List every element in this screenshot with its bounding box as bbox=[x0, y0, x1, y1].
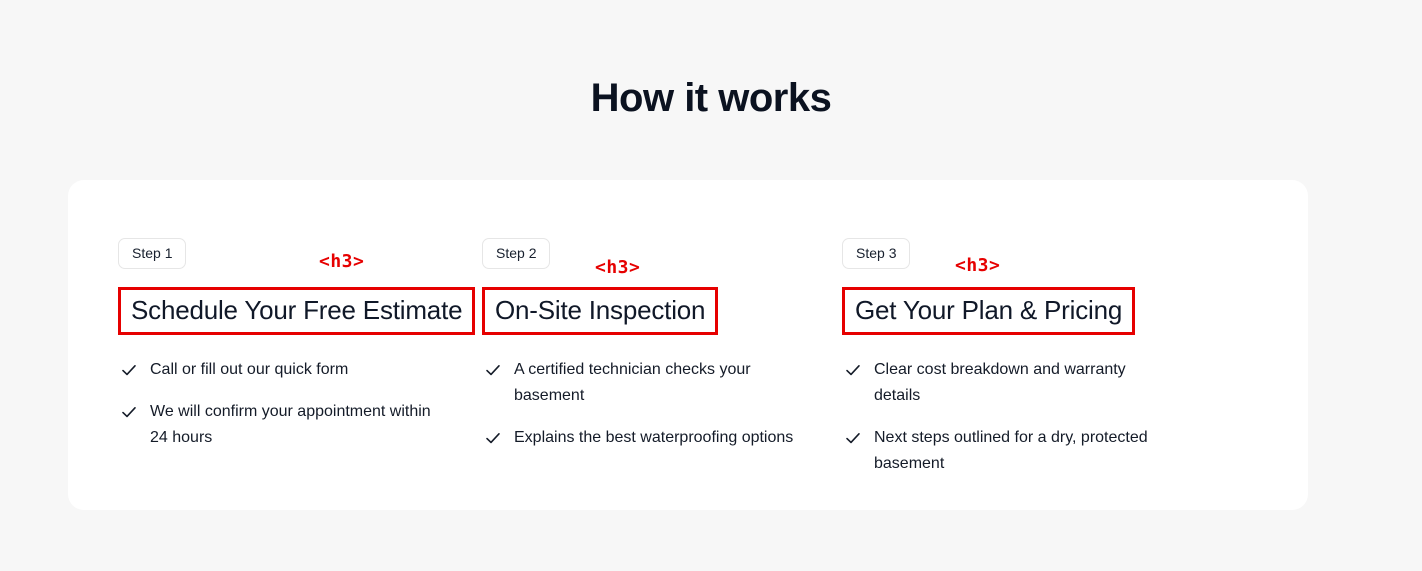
check-icon bbox=[484, 429, 502, 447]
step-2-heading: On-Site Inspection bbox=[495, 294, 705, 326]
step-3-badge: Step 3 bbox=[842, 238, 910, 269]
step-3-heading: Get Your Plan & Pricing bbox=[855, 294, 1122, 326]
step-1-heading: Schedule Your Free Estimate bbox=[131, 294, 462, 326]
list-item-text: Explains the best waterproofing options bbox=[514, 425, 804, 451]
step-2-heading-outline: On-Site Inspection bbox=[482, 287, 718, 335]
h3-annotation-tag-3: <h3> bbox=[955, 257, 1000, 275]
list-item: Explains the best waterproofing options bbox=[482, 425, 828, 451]
check-icon bbox=[844, 429, 862, 447]
list-item: We will confirm your appointment within … bbox=[118, 399, 468, 451]
list-item-text: Next steps outlined for a dry, protected… bbox=[874, 425, 1174, 477]
step-column-1: Step 1 <h3> Schedule Your Free Estimate … bbox=[68, 180, 478, 451]
step-1-badge: Step 1 bbox=[118, 238, 186, 269]
step-column-2: Step 2 <h3> On-Site Inspection A certifi… bbox=[478, 180, 838, 451]
check-icon bbox=[120, 361, 138, 379]
h3-annotation-tag-2: <h3> bbox=[595, 259, 640, 277]
list-item-text: Call or fill out our quick form bbox=[150, 357, 450, 383]
step-1-bullet-list: Call or fill out our quick form We will … bbox=[118, 357, 468, 451]
list-item: Call or fill out our quick form bbox=[118, 357, 468, 383]
step-2-badge-row: Step 2 <h3> bbox=[482, 238, 828, 272]
step-1-heading-outline: Schedule Your Free Estimate bbox=[118, 287, 475, 335]
list-item: Clear cost breakdown and warranty detail… bbox=[842, 357, 1288, 409]
list-item-text: Clear cost breakdown and warranty detail… bbox=[874, 357, 1174, 409]
list-item-text: A certified technician checks your basem… bbox=[514, 357, 804, 409]
step-2-bullet-list: A certified technician checks your basem… bbox=[482, 357, 828, 451]
step-2-badge: Step 2 bbox=[482, 238, 550, 269]
step-3-heading-outline: Get Your Plan & Pricing bbox=[842, 287, 1135, 335]
list-item: A certified technician checks your basem… bbox=[482, 357, 828, 409]
check-icon bbox=[484, 361, 502, 379]
h3-annotation-tag-1: <h3> bbox=[319, 253, 364, 271]
step-column-3: Step 3 <h3> Get Your Plan & Pricing Clea… bbox=[838, 180, 1308, 477]
steps-grid: Step 1 <h3> Schedule Your Free Estimate … bbox=[68, 180, 1308, 510]
page-title: How it works bbox=[0, 70, 1422, 126]
list-item-text: We will confirm your appointment within … bbox=[150, 399, 450, 451]
check-icon bbox=[120, 403, 138, 421]
steps-card: Step 1 <h3> Schedule Your Free Estimate … bbox=[68, 180, 1308, 510]
step-3-bullet-list: Clear cost breakdown and warranty detail… bbox=[842, 357, 1288, 477]
check-icon bbox=[844, 361, 862, 379]
how-it-works-section: How it works Step 1 <h3> Schedule Your F… bbox=[0, 0, 1422, 571]
step-1-badge-row: Step 1 <h3> bbox=[118, 238, 468, 272]
list-item: Next steps outlined for a dry, protected… bbox=[842, 425, 1288, 477]
step-3-badge-row: Step 3 <h3> bbox=[842, 238, 1288, 272]
